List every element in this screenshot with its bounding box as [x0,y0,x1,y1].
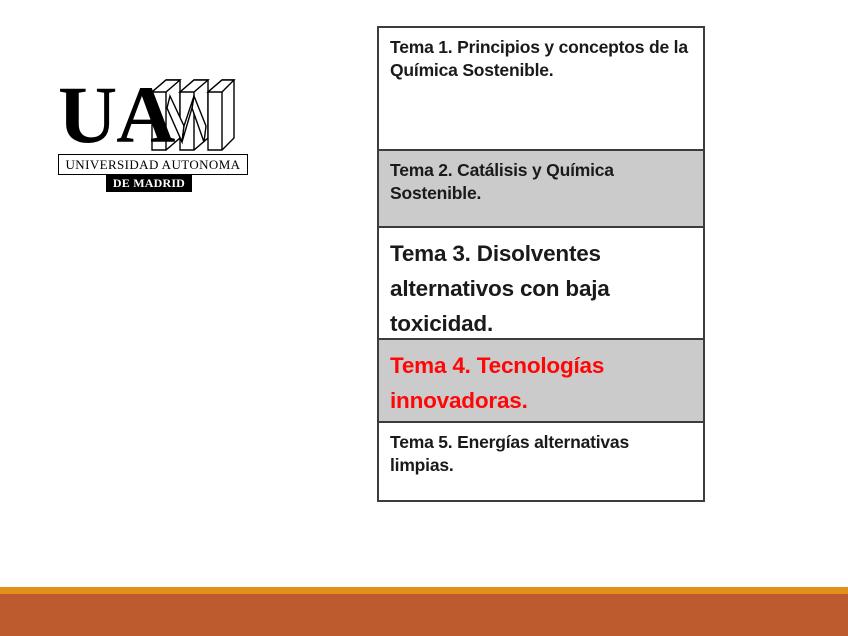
uam-logo-ua-letters: UA [58,74,174,156]
table-row[interactable]: Tema 1. Principios y conceptos de la Quí… [379,28,703,151]
topic-label: Tema 5. Energías alternativas limpias. [390,431,693,477]
uam-logo-wordmark: UA [58,78,256,156]
table-row[interactable]: Tema 3. Disolventes alternativos con baj… [379,228,703,340]
table-row-highlighted[interactable]: Tema 4. Tecnologías innovadoras. [379,340,703,423]
footer-accent-bar [0,587,848,594]
table-row[interactable]: Tema 5. Energías alternativas limpias. [379,423,703,500]
topic-label: Tema 2. Catálisis y Química Sostenible. [390,159,693,205]
uam-logo-city-line: DE MADRID [106,175,192,192]
uam-logo: UA [58,78,256,193]
topic-label: Tema 1. Principios y conceptos de la Quí… [390,36,693,82]
topic-label: Tema 3. Disolventes alternativos con baj… [390,236,693,340]
table-row[interactable]: Tema 2. Catálisis y Química Sostenible. [379,151,703,228]
footer-band [0,594,848,636]
course-topics-table: Tema 1. Principios y conceptos de la Quí… [377,26,705,502]
topic-label: Tema 4. Tecnologías innovadoras. [390,348,693,418]
slide-canvas: UA [0,0,848,636]
